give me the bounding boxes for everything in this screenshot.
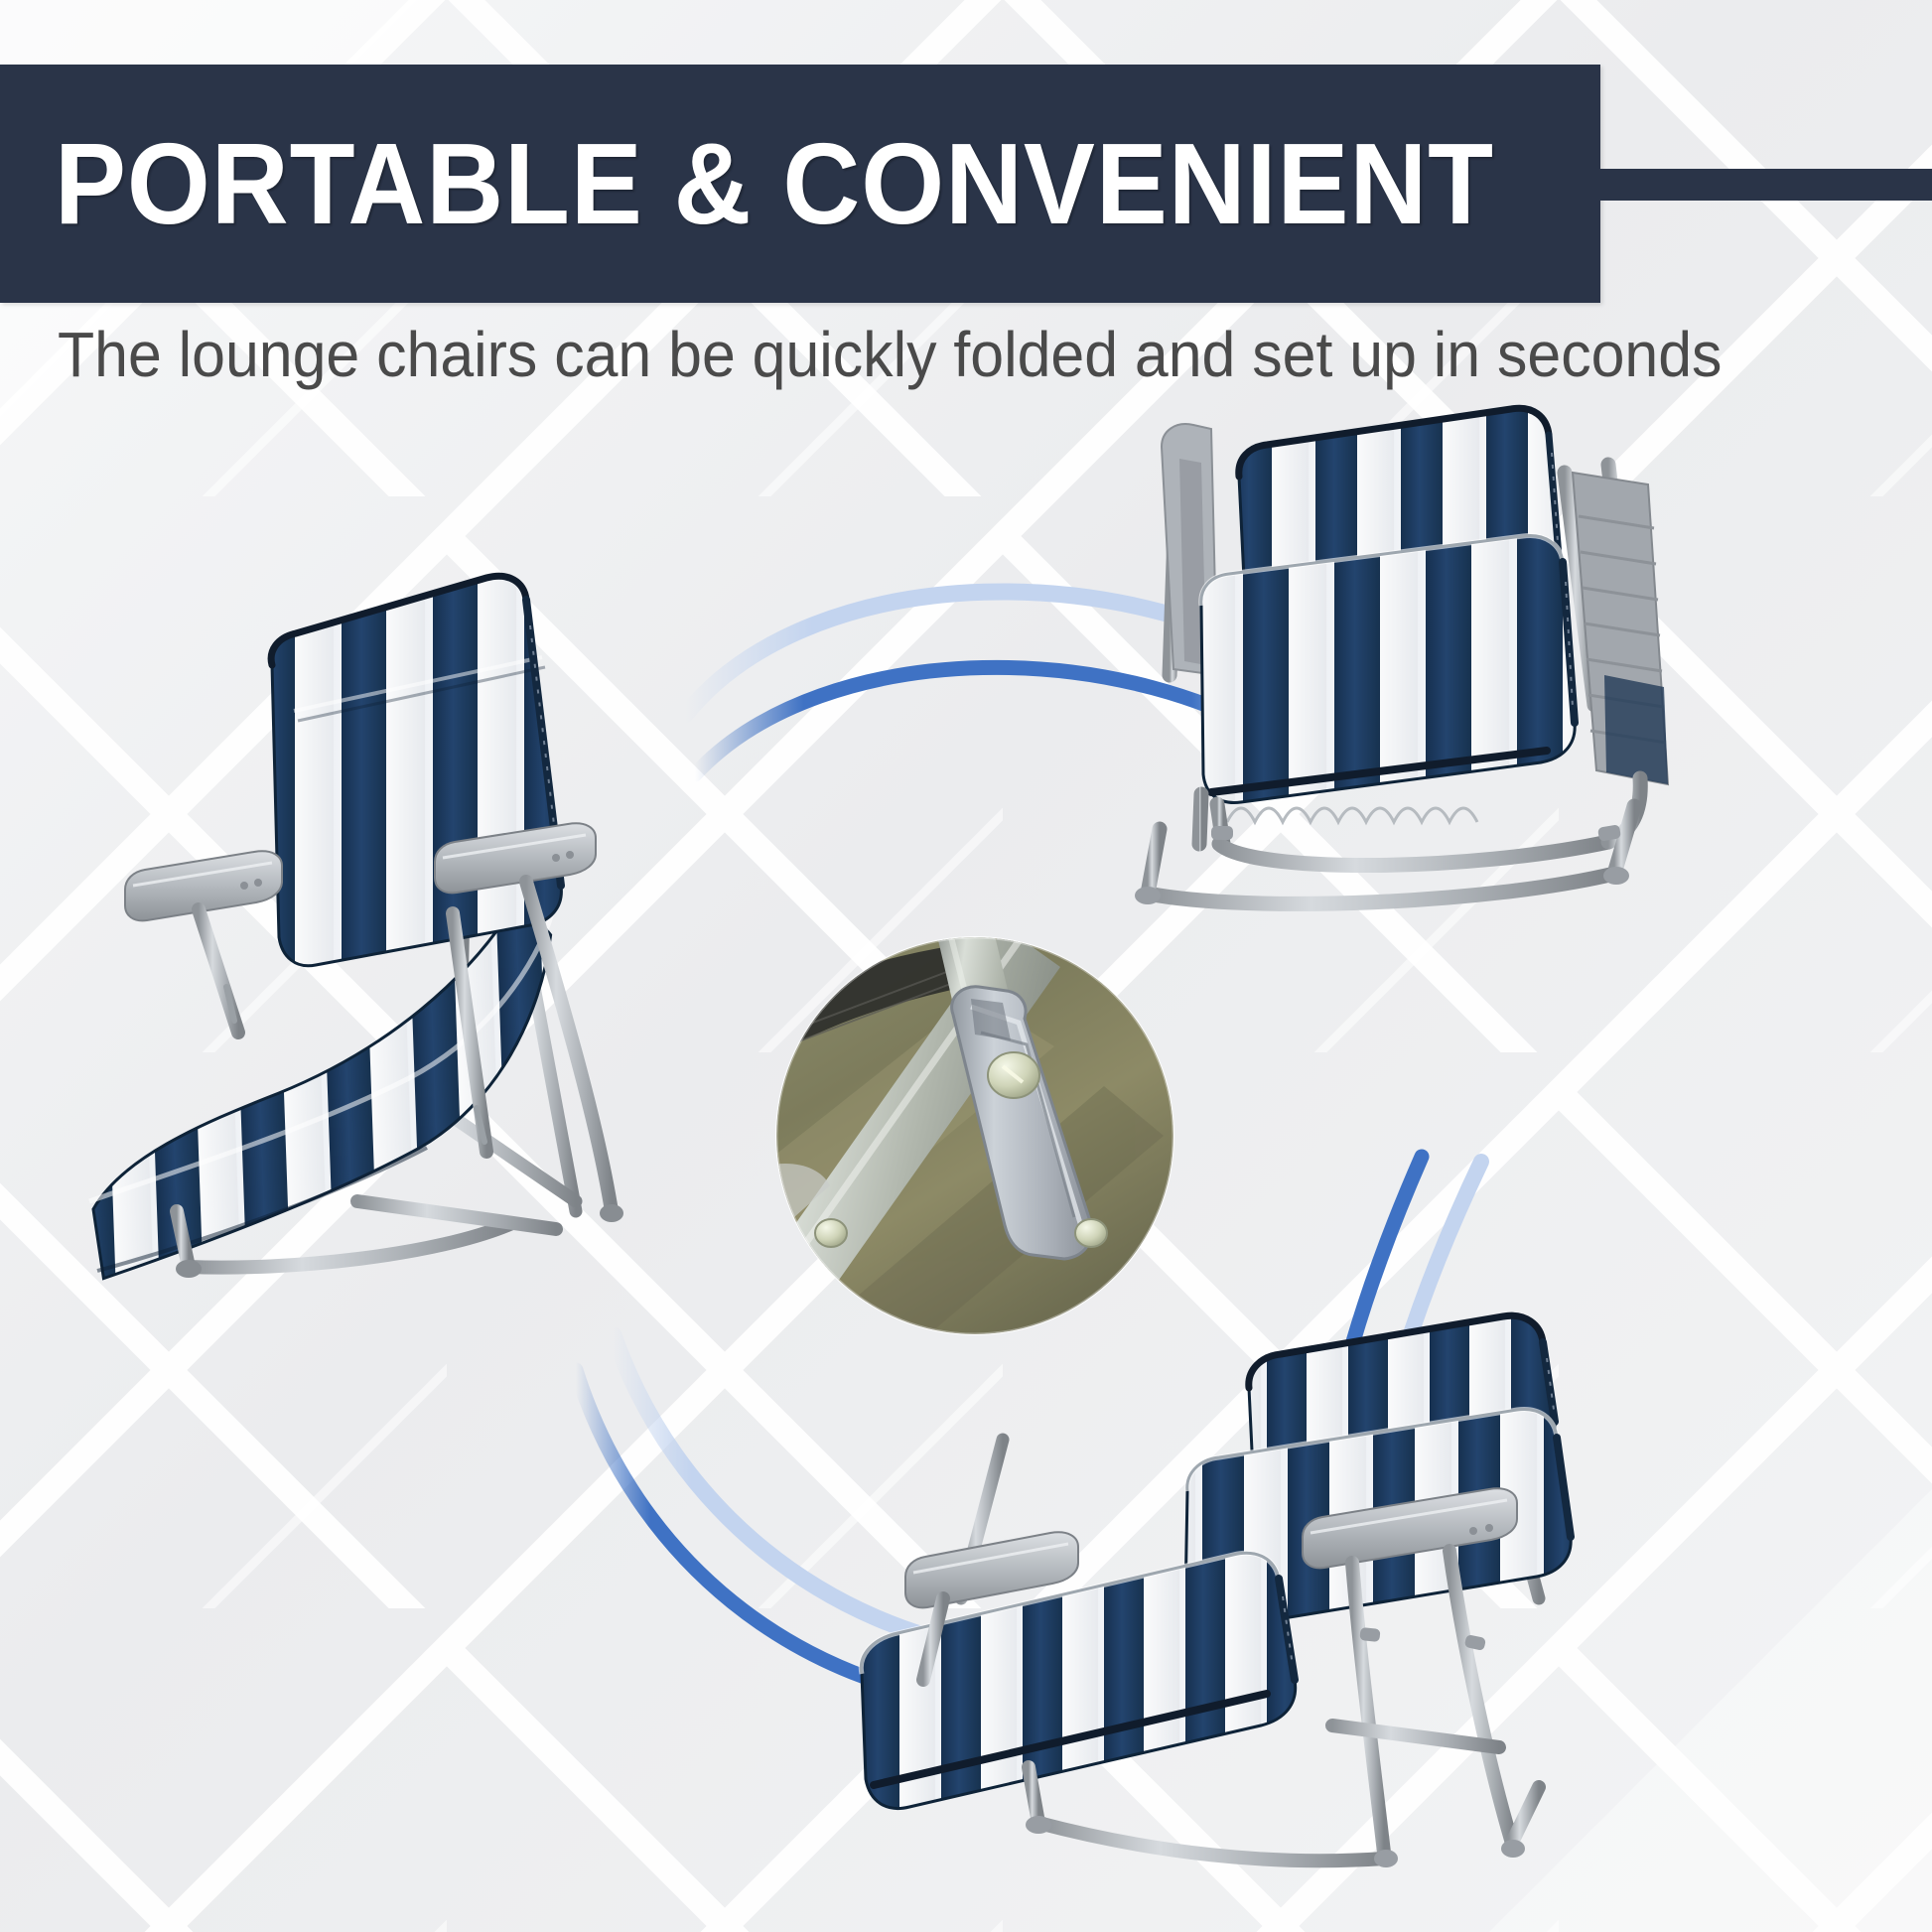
upright-chair-illustration [60, 516, 695, 1311]
upright-backrest-cushion [271, 576, 561, 966]
seat-spring-wire [1227, 808, 1477, 822]
hinge-detail-inset [776, 937, 1173, 1334]
hinge-detail-photo [776, 937, 1173, 1334]
page-title: PORTABLE & CONVENIENT [55, 126, 1494, 241]
product-upright-chair [60, 516, 695, 1311]
title-banner: PORTABLE & CONVENIENT [0, 65, 1600, 303]
folded-lower-cushion [1201, 536, 1575, 803]
product-lounge-chair [854, 1271, 1668, 1906]
product-folded-chair [1052, 377, 1708, 953]
tube-rivet [815, 1219, 847, 1247]
subtitle-text: The lounge chairs can be quickly folded … [58, 320, 1722, 389]
lounge-chair-illustration [854, 1271, 1668, 1906]
folded-back-panel [1573, 473, 1668, 784]
folded-chair-illustration [1052, 377, 1708, 953]
title-rule [1600, 169, 1932, 201]
